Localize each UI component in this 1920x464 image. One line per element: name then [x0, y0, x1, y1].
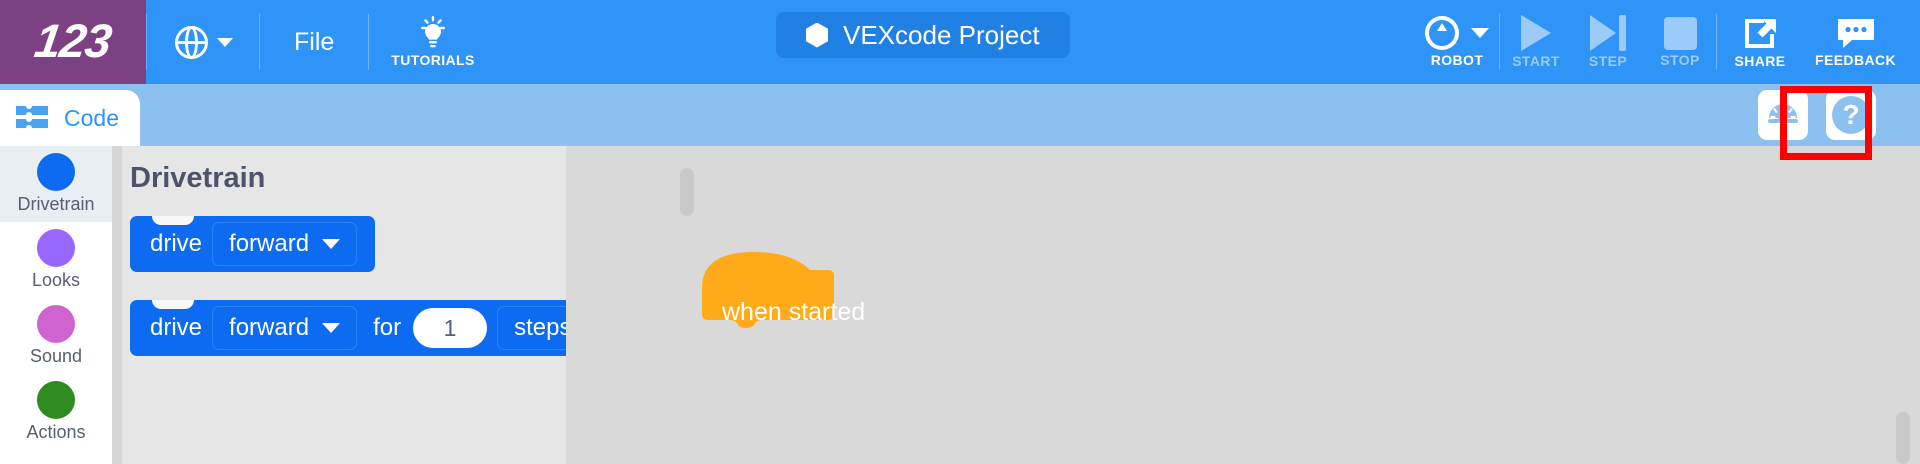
help-button[interactable]: ?: [1826, 90, 1876, 140]
file-menu-button[interactable]: File: [260, 0, 368, 84]
sidebar-item-label: Sound: [30, 346, 82, 367]
project-name-button[interactable]: VEXcode Project: [776, 12, 1070, 58]
gauge-icon: [1765, 100, 1801, 130]
block-label-for: for: [361, 314, 407, 342]
dropdown-value: forward: [229, 314, 309, 342]
dropdown-value: steps: [514, 314, 571, 342]
dropdown-direction[interactable]: forward: [212, 222, 357, 266]
chevron-down-icon: [217, 38, 233, 47]
start-button[interactable]: START: [1500, 0, 1572, 84]
step-label: STEP: [1589, 53, 1627, 69]
language-selector[interactable]: [147, 0, 259, 84]
feedback-button[interactable]: FEEDBACK: [1803, 0, 1920, 84]
tutorials-label: TUTORIALS: [391, 52, 474, 68]
step-button[interactable]: STEP: [1572, 0, 1644, 84]
vexcode-123-app: 123 File: [0, 0, 1920, 464]
block-drive-for-steps[interactable]: drive forward for 1 steps: [130, 300, 637, 356]
globe-icon: [175, 26, 208, 59]
play-icon: [1521, 15, 1551, 51]
feedback-label: FEEDBACK: [1815, 52, 1896, 68]
stop-square-icon: [1664, 17, 1697, 50]
workspace-scrollbar-right[interactable]: [1896, 412, 1910, 464]
chevron-down-icon: [322, 323, 340, 333]
robot-label: ROBOT: [1431, 52, 1484, 68]
category-sidebar: Drivetrain Looks Sound Actions: [0, 146, 113, 464]
share-label: SHARE: [1734, 53, 1785, 69]
block-label-drive: drive: [144, 314, 208, 342]
category-color-dot: [37, 229, 75, 267]
sidebar-item-actions[interactable]: Actions: [0, 374, 112, 450]
lightbulb-icon: [413, 16, 453, 50]
secondary-toolbar: Code ?: [0, 84, 1920, 146]
robot-brain-icon: [1425, 16, 1459, 50]
dashboard-button[interactable]: [1758, 90, 1808, 140]
sidebar-item-sound[interactable]: Sound: [0, 298, 112, 374]
question-mark-icon: ?: [1832, 96, 1870, 134]
block-drive-direction[interactable]: drive forward: [130, 216, 375, 272]
stop-button[interactable]: STOP: [1644, 0, 1716, 84]
block-when-started[interactable]: when started: [698, 248, 838, 333]
hexagon-icon: [806, 23, 828, 48]
vex-123-logo: 123: [32, 17, 114, 67]
share-export-icon: [1740, 15, 1780, 51]
block-when-started-label: when started: [722, 298, 865, 327]
block-notch: [152, 300, 194, 309]
code-blocks-icon: [14, 104, 52, 132]
sidebar-item-drivetrain[interactable]: Drivetrain: [0, 146, 112, 222]
sidebar-item-label: Looks: [32, 270, 80, 291]
palette-scroll-rail[interactable]: [112, 146, 122, 464]
dropdown-value: forward: [229, 230, 309, 258]
comment-dots-icon: [1835, 16, 1877, 50]
dropdown-direction[interactable]: forward: [212, 306, 357, 350]
category-color-dot: [37, 153, 75, 191]
share-button[interactable]: SHARE: [1717, 0, 1803, 84]
category-color-dot: [37, 381, 75, 419]
file-menu-label: File: [294, 28, 334, 57]
top-toolbar: 123 File: [0, 0, 1920, 84]
start-label: START: [1512, 53, 1560, 69]
sidebar-item-label: Actions: [26, 422, 85, 443]
project-name-label: VEXcode Project: [843, 20, 1040, 51]
block-label-drive: drive: [144, 230, 208, 258]
chevron-down-icon: [322, 239, 340, 249]
chevron-down-icon: [1471, 28, 1489, 38]
number-input-steps[interactable]: 1: [413, 308, 487, 348]
code-workspace[interactable]: when started: [566, 146, 1920, 464]
block-notch: [152, 216, 194, 225]
secondary-toolbar-right: ?: [1758, 84, 1876, 146]
palette-category-title: Drivetrain: [130, 162, 265, 195]
sidebar-item-looks[interactable]: Looks: [0, 222, 112, 298]
step-forward-icon: [1590, 15, 1626, 51]
tab-code[interactable]: Code: [0, 90, 140, 146]
main-area: Drivetrain Looks Sound Actions Drivetrai…: [0, 146, 1920, 464]
workspace-vertical-scrollbar[interactable]: [680, 168, 694, 216]
stop-label: STOP: [1660, 52, 1699, 68]
tutorials-button[interactable]: TUTORIALS: [369, 0, 496, 84]
brand-logo-area: 123: [0, 0, 146, 84]
category-color-dot: [37, 305, 75, 343]
sidebar-item-label: Drivetrain: [17, 194, 94, 215]
robot-button[interactable]: ROBOT: [1411, 0, 1499, 84]
tab-code-label: Code: [64, 105, 119, 132]
toolbar-right-group: ROBOT START STEP STOP: [1411, 0, 1920, 84]
